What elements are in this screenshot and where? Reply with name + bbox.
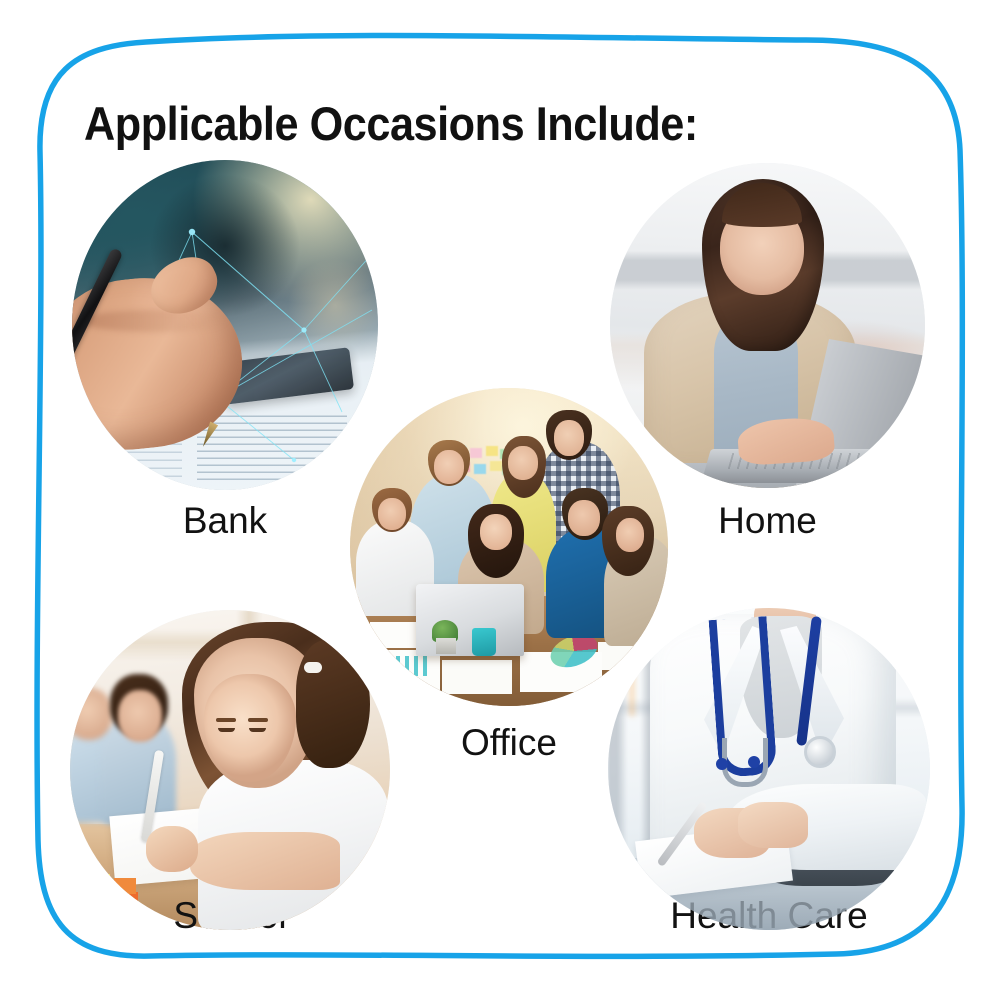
person-light-blue-face xyxy=(434,450,464,484)
stethoscope-tip-left xyxy=(716,758,728,770)
girl-hand-writing xyxy=(146,826,198,872)
page-title: Applicable Occasions Include: xyxy=(84,96,698,151)
laptop-icon xyxy=(416,584,524,656)
stethoscope-tip-right xyxy=(748,756,760,768)
pen-cup-icon xyxy=(472,628,496,656)
person-plaid-face xyxy=(554,420,584,456)
girl-eyebrow-left xyxy=(216,718,236,722)
promo-banner: Applicable Occasions Include: xyxy=(0,0,1000,1000)
occasion-image-school xyxy=(70,610,390,930)
occasion-image-health-care xyxy=(608,608,930,930)
stethoscope-chestpiece-icon xyxy=(804,736,836,768)
person-beige-jacket-face xyxy=(616,518,644,552)
person-white-shirt-face xyxy=(378,498,406,530)
girl-arm xyxy=(190,832,340,890)
girl-eye-right xyxy=(249,728,266,732)
hair-band-icon xyxy=(304,662,322,673)
person-blue-sweater-face xyxy=(568,500,600,536)
ponytail-icon xyxy=(296,640,370,768)
occasion-label-bank: Bank xyxy=(72,500,378,542)
girl-eye-left xyxy=(218,728,235,732)
occasion-image-bank xyxy=(72,160,378,490)
person-center-face xyxy=(480,514,512,550)
doctor-hand-resting xyxy=(738,802,808,848)
person-yellow-face xyxy=(508,446,538,480)
classmate-near-face xyxy=(118,690,162,742)
bank-hand-shading xyxy=(80,310,230,332)
plant-pot xyxy=(436,638,456,654)
stethoscope-silver-tube xyxy=(722,738,768,787)
classmate-far-head xyxy=(70,688,112,740)
girl-eyebrow-right xyxy=(248,718,268,722)
